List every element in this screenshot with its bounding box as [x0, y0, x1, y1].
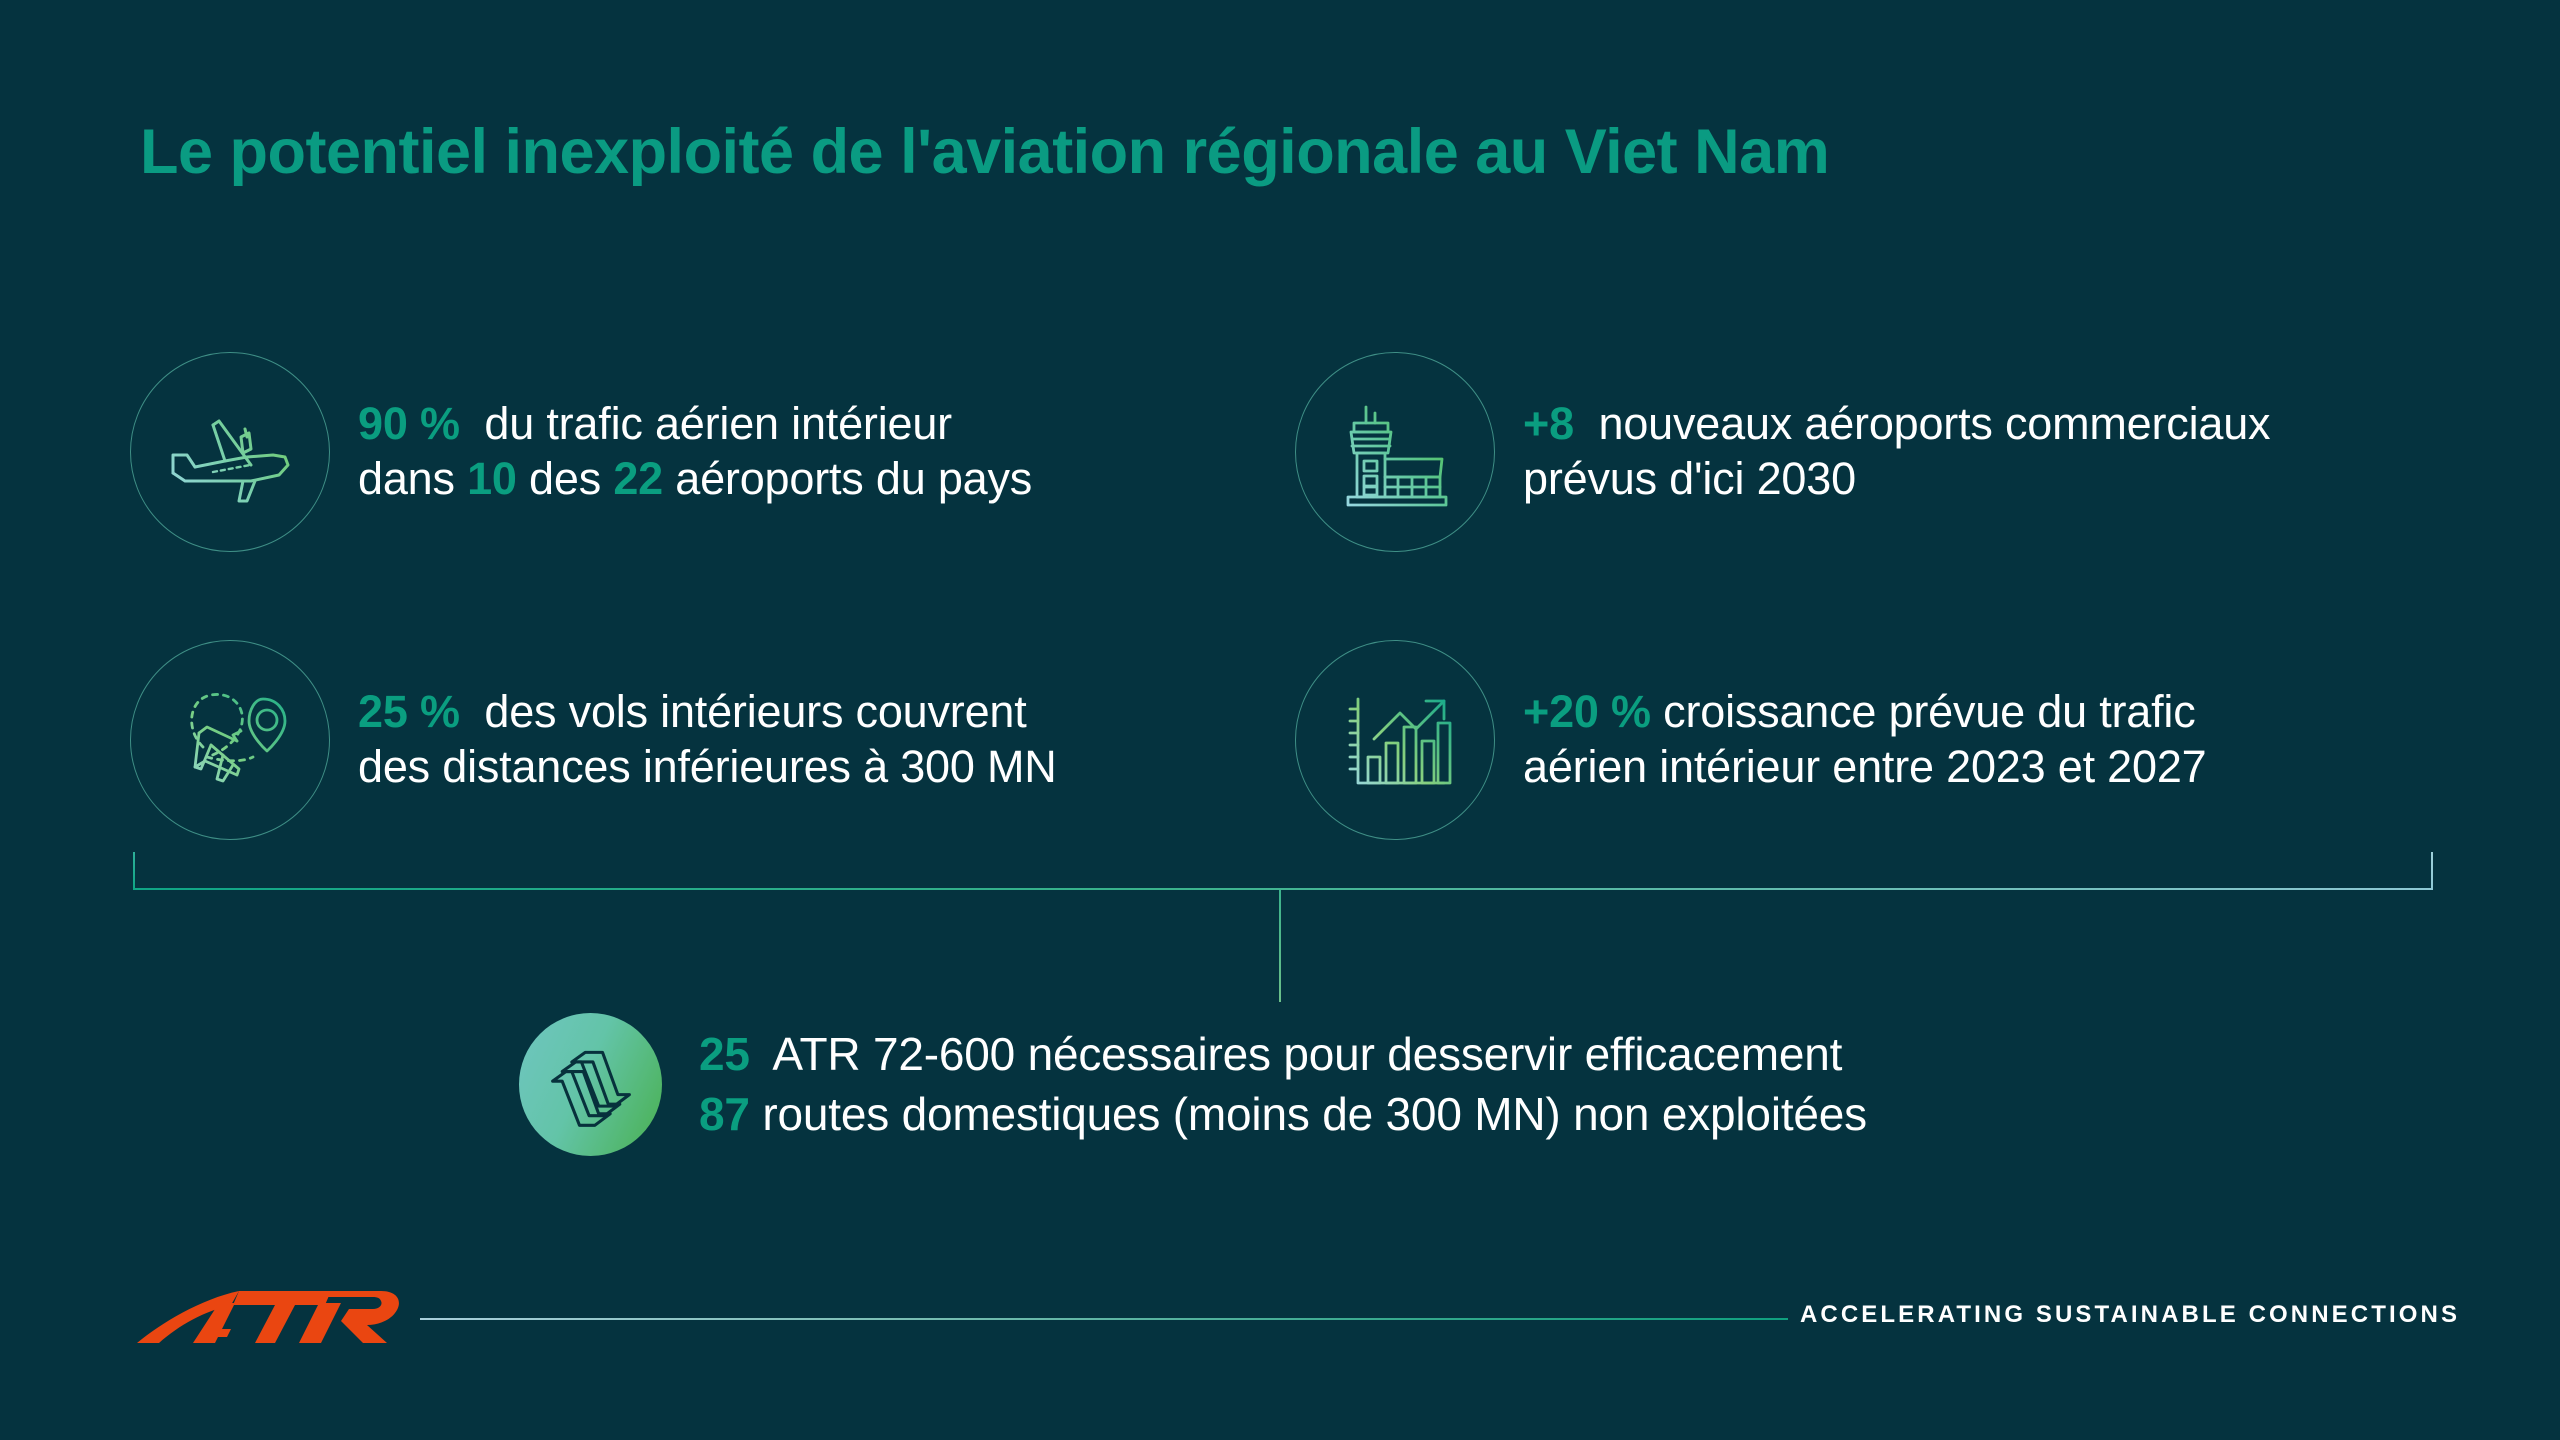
- callout-label-routes: routes domestiques (moins de 300 MN) non…: [762, 1088, 1867, 1140]
- stat-block-new-airports: +8 nouveaux aéroports commerciaux prévus…: [1295, 352, 2445, 552]
- stat-line2-suffix: prévus d'ici 2030: [1523, 453, 1856, 504]
- bracket-tick-left: [133, 852, 135, 890]
- callout-label-aircraft: ATR 72-600 nécessaires pour desservir ef…: [772, 1028, 1842, 1080]
- stat-text: +8 nouveaux aéroports commerciaux prévus…: [1523, 397, 2270, 507]
- stat-label: nouveaux aéroports commerciaux: [1599, 398, 2271, 449]
- stat-block-short-routes: 25 % des vols intérieurs couvrent des di…: [130, 640, 1270, 840]
- footer-divider: [420, 1318, 1788, 1320]
- stat-value: +8: [1523, 398, 1574, 449]
- stat-line2-prefix: dans: [358, 453, 467, 504]
- airplane-icon: [130, 352, 330, 552]
- stat-line2-suffix: des distances inférieures à 300 MN: [358, 741, 1057, 792]
- stat-label: croissance prévue du trafic: [1663, 686, 2195, 737]
- stat-text: 90 % du trafic aérien intérieur dans 10 …: [358, 397, 1032, 507]
- stat-line2-suffix: aérien intérieur entre 2023 et 2027: [1523, 741, 2207, 792]
- footer-tagline: ACCELERATING SUSTAINABLE CONNECTIONS: [1800, 1301, 2460, 1329]
- stat-value: +20 %: [1523, 686, 1651, 737]
- page-title: Le potentiel inexploité de l'aviation ré…: [140, 116, 1829, 188]
- infographic-canvas: Le potentiel inexploité de l'aviation ré…: [0, 0, 2560, 1440]
- stat-text: +20 % croissance prévue du trafic aérien…: [1523, 685, 2207, 795]
- stat-line2-suffix: aéroports du pays: [663, 453, 1032, 504]
- airport-tower-icon: [1295, 352, 1495, 552]
- stat-value-secondary: 10: [467, 453, 517, 504]
- callout-value-aircraft: 25: [699, 1028, 750, 1080]
- callout-block: 25 ATR 72-600 nécessaires pour desservir…: [519, 1013, 1867, 1156]
- callout-value-routes: 87: [699, 1088, 750, 1140]
- footer: ACCELERATING SUSTAINABLE CONNECTIONS: [0, 1285, 2560, 1355]
- stat-text: 25 % des vols intérieurs couvrent des di…: [358, 685, 1057, 795]
- stat-block-domestic-traffic: 90 % du trafic aérien intérieur dans 10 …: [130, 352, 1270, 552]
- stat-block-traffic-growth: +20 % croissance prévue du trafic aérien…: [1295, 640, 2445, 840]
- callout-text: 25 ATR 72-600 nécessaires pour desservir…: [699, 1025, 1867, 1145]
- stat-value-tertiary: 22: [613, 453, 663, 504]
- stat-value: 90 %: [358, 398, 460, 449]
- bracket-drop-line: [1279, 890, 1281, 1002]
- flight-route-pin-icon: [130, 640, 330, 840]
- bracket-tick-right: [2431, 852, 2433, 890]
- stat-label: des vols intérieurs couvrent: [484, 686, 1026, 737]
- stat-value: 25 %: [358, 686, 460, 737]
- bracket-connector: [133, 852, 2433, 890]
- atr-tails-logo-icon: [519, 1013, 662, 1156]
- atr-logo: [135, 1285, 405, 1347]
- bracket-horizontal-line: [133, 888, 2433, 890]
- stat-label: du trafic aérien intérieur: [484, 398, 952, 449]
- stat-line2-middle: des: [517, 453, 614, 504]
- growth-bar-chart-icon: [1295, 640, 1495, 840]
